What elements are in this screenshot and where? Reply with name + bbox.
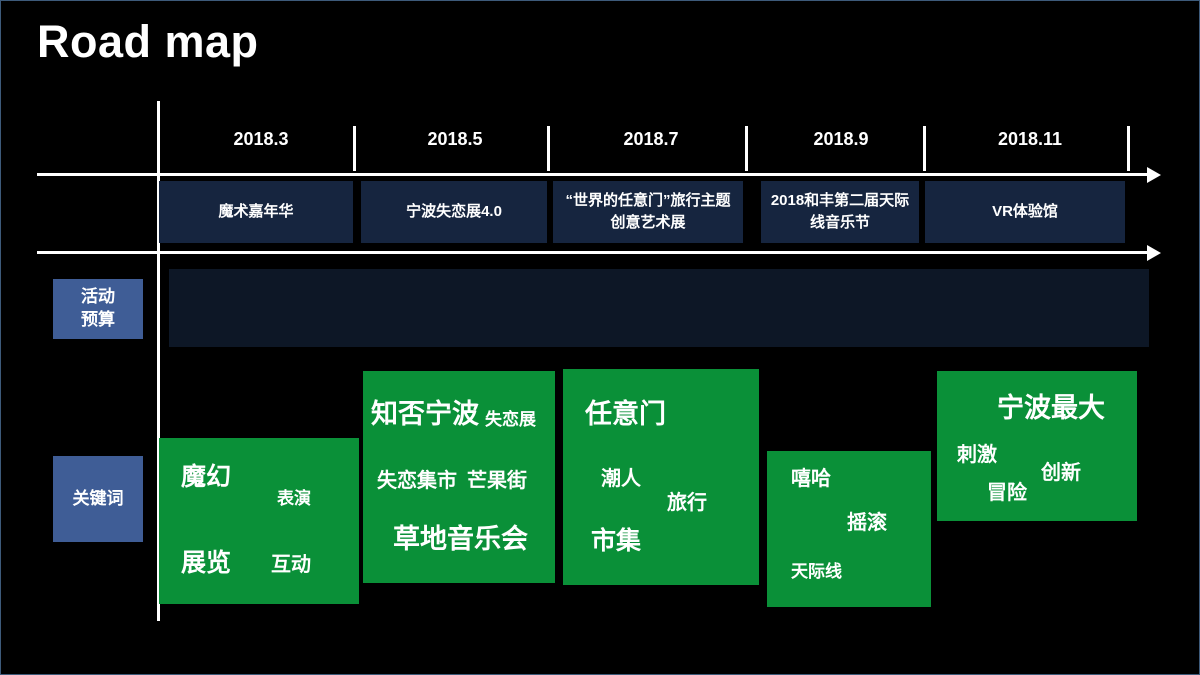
event-box-3[interactable]: “世界的任意门”旅行主题创意艺术展 (553, 181, 743, 243)
timeline-tick-1 (353, 126, 356, 171)
keyword-box-4[interactable]: 嘻哈 摇滚 天际线 (767, 451, 931, 607)
date-label-5: 2018.11 (933, 129, 1127, 150)
event-box-5[interactable]: VR体验馆 (925, 181, 1125, 243)
row-label-budget-line1: 活动 (81, 286, 115, 309)
date-label-2: 2018.5 (363, 129, 547, 150)
keyword-2-3: 失恋集市 (377, 471, 457, 491)
keyword-3-3: 旅行 (667, 493, 707, 513)
keyword-4-2: 摇滚 (847, 513, 887, 533)
keyword-3-4: 市集 (591, 529, 641, 554)
keyword-1-4: 互动 (271, 555, 311, 575)
keyword-1-3: 展览 (181, 551, 231, 576)
timeline-axis-bottom-arrow (1147, 245, 1161, 261)
timeline-axis-top-arrow (1147, 167, 1161, 183)
keyword-4-3: 天际线 (791, 563, 842, 580)
roadmap-slide: Road map 2018.3 2018.5 2018.7 2018.9 201… (0, 0, 1200, 675)
keyword-1-1: 魔幻 (181, 465, 231, 490)
page-title: Road map (37, 17, 259, 67)
keyword-5-3: 创新 (1041, 463, 1081, 483)
event-box-2[interactable]: 宁波失恋展4.0 (361, 181, 547, 243)
keyword-2-2: 失恋展 (485, 411, 536, 428)
keyword-box-5[interactable]: 宁波最大 刺激 创新 冒险 (937, 371, 1137, 521)
keyword-3-1: 任意门 (585, 401, 666, 428)
keyword-3-2: 潮人 (601, 469, 641, 489)
timeline-axis-top (37, 173, 1147, 176)
timeline-tick-5 (1127, 126, 1130, 171)
row-label-keywords: 关键词 (53, 456, 143, 542)
row-label-budget-line2: 预算 (81, 309, 115, 332)
keyword-4-1: 嘻哈 (791, 469, 831, 489)
keyword-5-1: 宁波最大 (997, 395, 1105, 422)
budget-bar[interactable] (169, 269, 1149, 347)
keyword-box-3[interactable]: 任意门 潮人 旅行 市集 (563, 369, 759, 585)
row-label-budget: 活动 预算 (53, 279, 143, 339)
timeline-tick-2 (547, 126, 550, 171)
timeline-tick-4 (923, 126, 926, 171)
date-label-3: 2018.7 (557, 129, 745, 150)
keyword-5-4: 冒险 (987, 483, 1027, 503)
date-label-1: 2018.3 (169, 129, 353, 150)
keyword-2-4: 芒果街 (467, 471, 527, 491)
event-box-4[interactable]: 2018和丰第二届天际线音乐节 (761, 181, 919, 243)
keyword-2-5: 草地音乐会 (393, 526, 528, 553)
keyword-2-1: 知否宁波 (371, 401, 479, 428)
keyword-box-2[interactable]: 知否宁波 失恋展 失恋集市 芒果街 草地音乐会 (363, 371, 555, 583)
timeline-axis-bottom (37, 251, 1147, 254)
keyword-box-1[interactable]: 魔幻 表演 展览 互动 (159, 438, 359, 604)
event-box-1[interactable]: 魔术嘉年华 (159, 181, 353, 243)
keyword-1-2: 表演 (277, 490, 311, 507)
date-label-4: 2018.9 (759, 129, 923, 150)
timeline-tick-3 (745, 126, 748, 171)
keyword-5-2: 刺激 (957, 445, 997, 465)
